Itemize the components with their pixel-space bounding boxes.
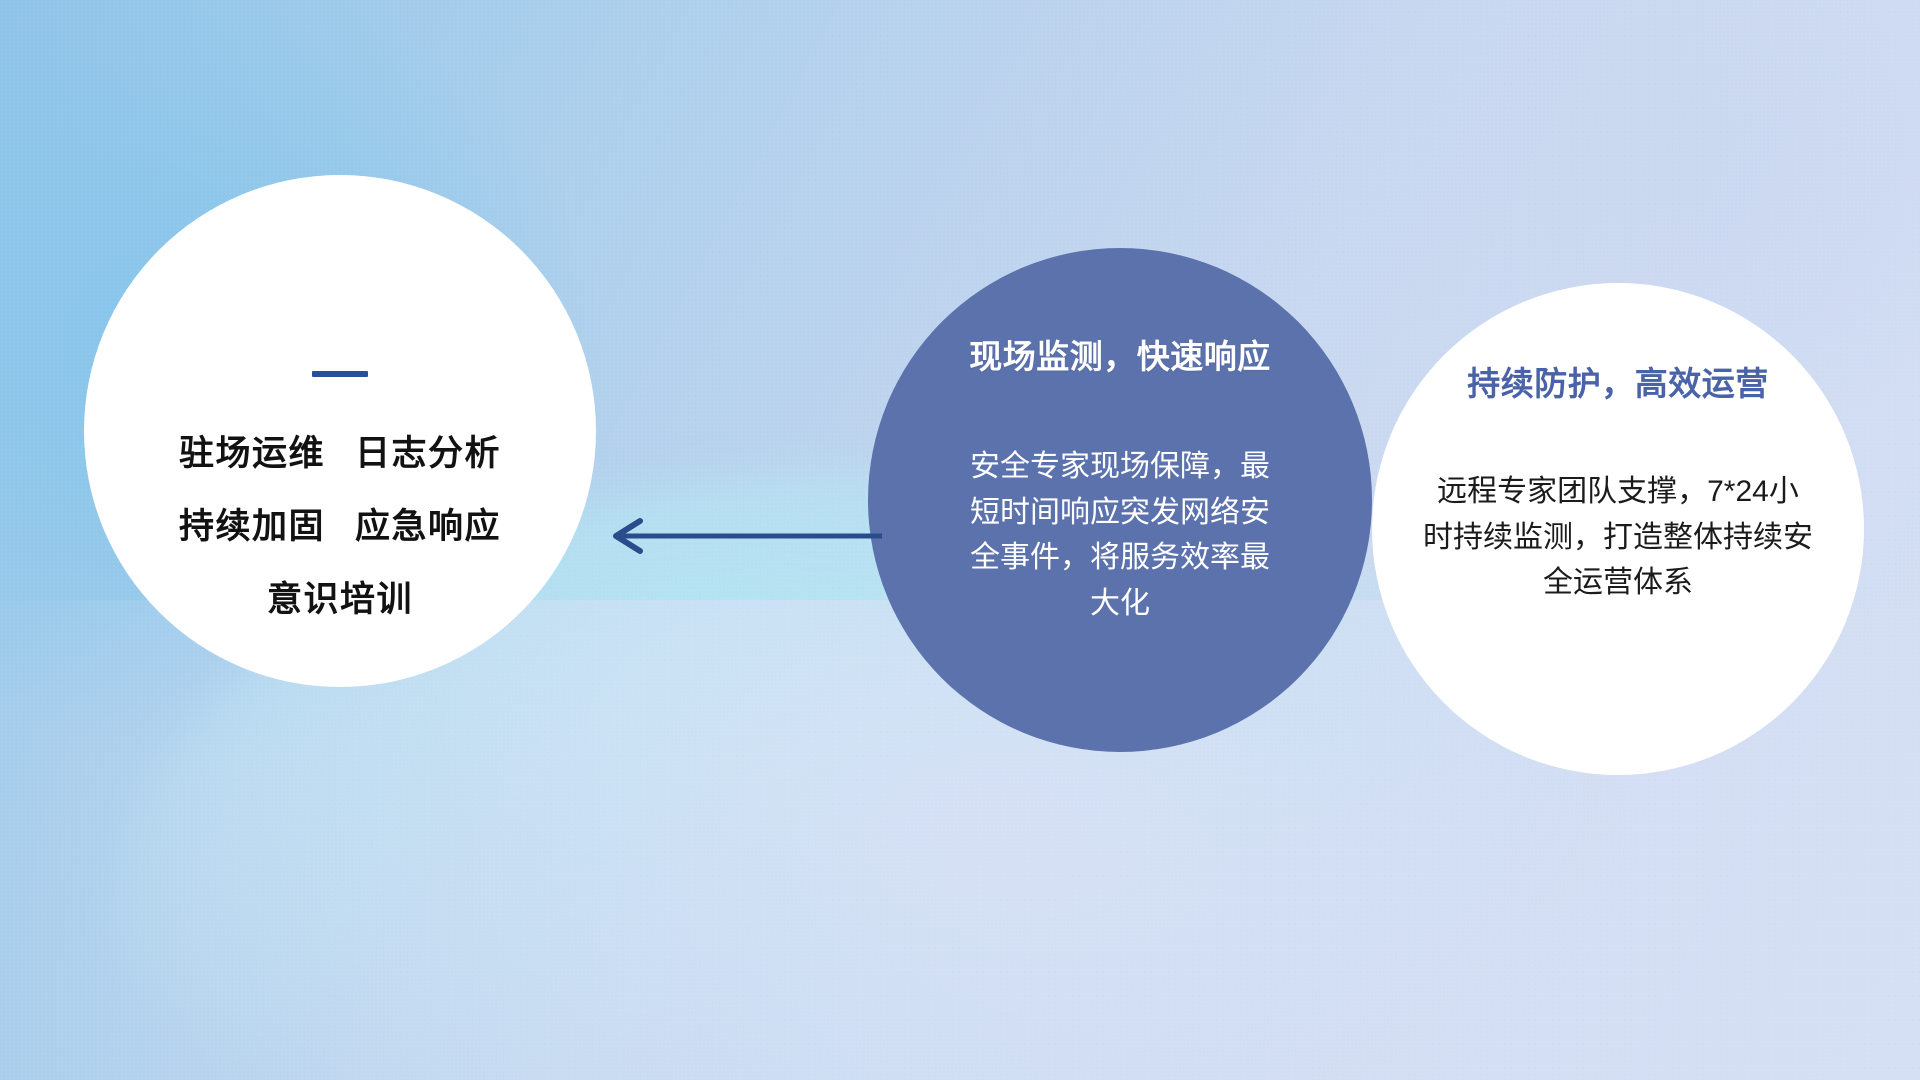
circle-service-capabilities: 驻场运维 日志分析 持续加固 应急响应 意识培训 bbox=[84, 175, 596, 687]
circle-continuous-protection-body: 远程专家团队支撑，7*24小时持续监测，打造整体持续安全运营体系 bbox=[1423, 469, 1813, 606]
circle-onsite-monitoring-title: 现场监测，快速响应 bbox=[969, 330, 1271, 378]
capability-item: 应急响应 bbox=[355, 498, 501, 549]
slide-canvas: 现场监测，快速响应 安全专家现场保障，最短时间响应突发网络安全事件，将服务效率最… bbox=[0, 0, 1920, 1080]
circle-onsite-monitoring-body: 安全专家现场保障，最短时间响应突发网络安全事件，将服务效率最大化 bbox=[970, 444, 1270, 626]
capability-item: 持续加固 bbox=[179, 498, 325, 549]
circle-continuous-protection: 持续防护，高效运营 远程专家团队支撑，7*24小时持续监测，打造整体持续安全运营… bbox=[1372, 283, 1864, 775]
capability-row: 驻场运维 日志分析 bbox=[179, 425, 501, 476]
capability-item: 日志分析 bbox=[355, 425, 501, 476]
capability-item: 驻场运维 bbox=[179, 425, 325, 476]
capability-row: 持续加固 应急响应 bbox=[179, 498, 501, 549]
capability-item: 意识培训 bbox=[267, 571, 413, 622]
arrow-left-icon bbox=[596, 512, 886, 560]
circle-onsite-monitoring: 现场监测，快速响应 安全专家现场保障，最短时间响应突发网络安全事件，将服务效率最… bbox=[868, 248, 1372, 752]
capability-row: 意识培训 bbox=[267, 571, 413, 622]
circle-continuous-protection-title: 持续防护，高效运营 bbox=[1467, 357, 1769, 405]
dash-accent-icon bbox=[312, 371, 368, 377]
capability-list: 驻场运维 日志分析 持续加固 应急响应 意识培训 bbox=[179, 425, 501, 622]
